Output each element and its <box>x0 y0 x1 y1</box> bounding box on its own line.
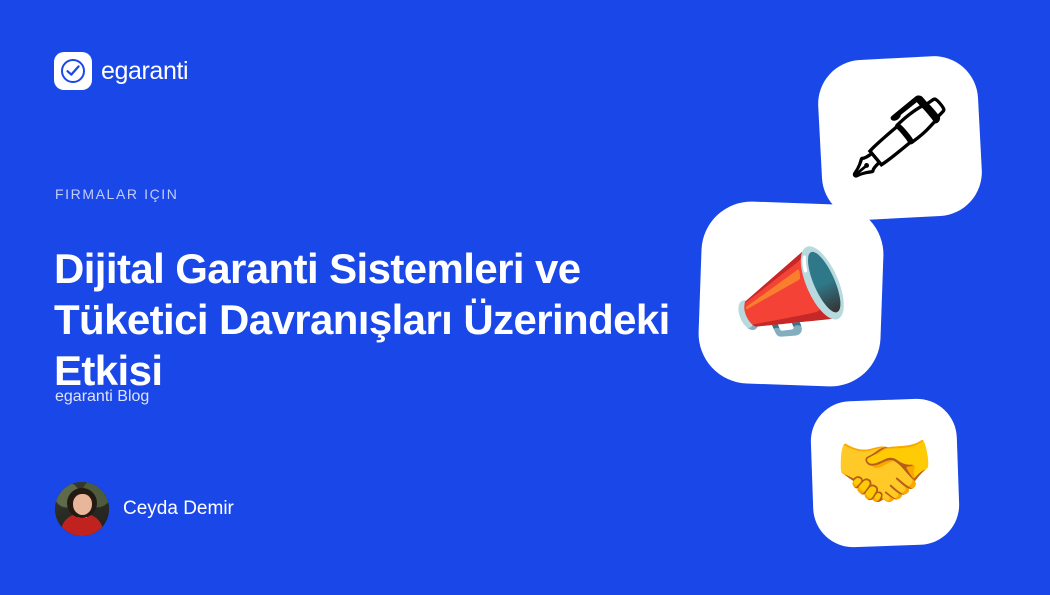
brand-name: egaranti <box>101 57 188 86</box>
decoration-card-megaphone: 📣 <box>697 200 885 388</box>
blog-cover-canvas: egaranti FIRMALAR IÇIN Dijital Garanti S… <box>0 0 1050 595</box>
brand-logo[interactable]: egaranti <box>54 52 188 90</box>
megaphone-icon: 📣 <box>730 244 853 344</box>
decoration-card-handshake: 🤝 <box>809 397 960 548</box>
author-block: Ceyda Demir <box>55 482 234 536</box>
author-name: Ceyda Demir <box>123 498 234 520</box>
avatar <box>55 482 109 536</box>
egaranti-check-mark-icon <box>54 52 92 90</box>
category-eyebrow: FIRMALAR IÇIN <box>55 186 178 202</box>
handshake-icon: 🤝 <box>833 430 938 516</box>
decoration-card-pen: 🖋 <box>816 54 984 222</box>
page-title: Dijital Garanti Sistemleri ve Tüketici D… <box>54 243 694 396</box>
blog-subtitle: egaranti Blog <box>55 388 149 406</box>
fountain-pen-icon: 🖋 <box>842 90 958 185</box>
